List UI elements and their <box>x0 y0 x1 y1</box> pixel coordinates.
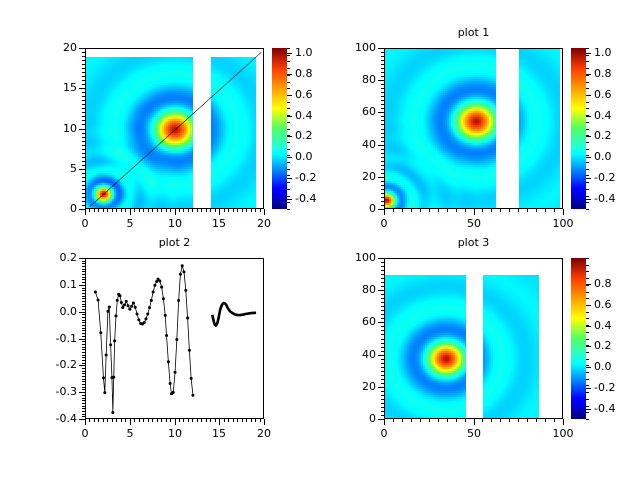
axis-tick <box>82 153 85 154</box>
colorbar-minor-tick <box>586 365 589 366</box>
colorbar-minor-tick <box>287 61 290 62</box>
axis-tick <box>82 149 85 150</box>
axis-tick <box>381 96 384 97</box>
axis-tick <box>130 209 131 215</box>
axis-tick <box>179 419 180 422</box>
axis-tick <box>447 419 448 422</box>
axis-tick <box>85 419 86 425</box>
axis-tick <box>82 100 85 101</box>
axis-tick <box>219 419 220 425</box>
colorbar-minor-tick <box>287 68 290 69</box>
axis-tick <box>79 392 85 393</box>
axis-tick <box>197 209 198 212</box>
axis-tick <box>82 52 85 53</box>
axis-tick <box>381 141 384 142</box>
data-point-marker <box>105 354 108 357</box>
axis-tick <box>82 293 85 294</box>
axis-tick <box>381 399 384 400</box>
data-point-marker <box>119 294 122 297</box>
axis-tick <box>210 209 211 212</box>
axis-tick <box>82 347 85 348</box>
axis-tick <box>82 381 85 382</box>
data-point-marker <box>121 306 124 309</box>
colorbar-minor-tick <box>586 298 589 299</box>
axis-tick <box>474 419 475 425</box>
axis-tick <box>554 209 555 212</box>
axis-tick <box>103 209 104 212</box>
colorbar-tick <box>586 53 591 54</box>
colorbar-tick-label: -0.4 <box>295 192 316 205</box>
axis-tick <box>82 68 85 69</box>
axis-tick <box>491 209 492 212</box>
axis-tick <box>82 282 85 283</box>
axis-tick <box>82 120 85 121</box>
axis-tick <box>82 314 85 315</box>
axis-tick <box>381 310 384 311</box>
colorbar-minor-tick <box>586 271 589 272</box>
data-point-marker <box>167 360 170 363</box>
line-path <box>212 303 256 326</box>
colorbar-plot1 <box>571 48 586 209</box>
axis-tick <box>491 419 492 422</box>
axis-tick <box>82 328 85 329</box>
axis-tick <box>82 349 85 350</box>
axis-tick <box>79 88 85 89</box>
axis-tick <box>82 360 85 361</box>
axis-tick <box>260 209 261 212</box>
colorbar-minor-tick <box>586 68 589 69</box>
data-point-marker <box>137 318 140 321</box>
axis-tick <box>429 209 430 212</box>
x-tick-label: 5 <box>112 217 148 230</box>
title-plot2: plot 2 <box>85 236 264 249</box>
axis-tick <box>381 302 384 303</box>
axis-tick <box>381 161 384 162</box>
axis-tick <box>381 326 384 327</box>
colorbar-minor-tick <box>586 175 589 176</box>
colorbar-minor-tick <box>586 129 589 130</box>
axis-tick <box>381 100 384 101</box>
y-tick-label: 0.2 <box>35 251 77 264</box>
colorbar-minor-tick <box>586 419 589 420</box>
colorbar-tick-label: -0.2 <box>594 381 615 394</box>
axis-tick <box>79 169 85 170</box>
colorbar-minor-tick <box>586 55 589 56</box>
colorbar-tick <box>287 136 292 137</box>
axis-tick <box>381 266 384 267</box>
colorbar-tick-label: -0.2 <box>594 171 615 184</box>
data-point-marker <box>179 273 182 276</box>
axis-tick <box>402 209 403 212</box>
axis-tick <box>474 209 475 215</box>
y-tick-label: 0 <box>35 202 77 215</box>
colorbar-minor-tick <box>287 55 290 56</box>
colorbar-minor-tick <box>586 312 589 313</box>
y-tick-label: 10 <box>35 122 77 135</box>
axis-tick <box>166 419 167 422</box>
colorbar-tick <box>586 326 591 327</box>
axis-tick <box>237 419 238 422</box>
colorbar-minor-tick <box>287 149 290 150</box>
x-tick-label: 15 <box>201 217 237 230</box>
colorbar-minor-tick <box>287 209 290 210</box>
axis-tick <box>482 419 483 422</box>
axis-tick <box>82 357 85 358</box>
data-point-marker <box>148 306 151 309</box>
colorbar-minor-tick <box>586 61 589 62</box>
axis-tick <box>219 209 220 215</box>
axis-tick <box>381 339 384 340</box>
heatmap-image-plot3 <box>385 259 563 419</box>
axis-tick <box>82 266 85 267</box>
axis-tick <box>438 419 439 422</box>
axis-tick <box>378 322 384 323</box>
axis-tick <box>509 419 510 422</box>
axis-tick <box>509 209 510 212</box>
data-point-marker <box>150 299 153 302</box>
axis-tick <box>381 157 384 158</box>
axis-tick <box>381 262 384 263</box>
colorbar-minor-tick <box>586 209 589 210</box>
axis-tick <box>378 145 384 146</box>
data-point-marker <box>144 317 147 320</box>
y-tick-label: -0.1 <box>35 332 77 345</box>
axis-tick <box>98 419 99 422</box>
data-point-marker <box>106 310 109 313</box>
axis-tick <box>183 209 184 212</box>
x-tick-label: 100 <box>545 217 581 230</box>
axis-tick <box>554 419 555 422</box>
colorbar-minor-tick <box>287 182 290 183</box>
axes-plot3[interactable] <box>384 258 563 419</box>
axis-tick <box>82 161 85 162</box>
data-point-marker <box>120 301 123 304</box>
axis-tick <box>116 209 117 212</box>
axis-tick <box>527 419 528 422</box>
axis-tick <box>210 419 211 422</box>
axis-tick <box>82 296 85 297</box>
axis-tick <box>381 415 384 416</box>
axis-tick <box>255 209 256 212</box>
axis-tick <box>381 149 384 150</box>
axis-tick <box>264 209 265 215</box>
colorbar-minor-tick <box>287 88 290 89</box>
colorbar-minor-tick <box>287 82 290 83</box>
axis-tick <box>381 205 384 206</box>
axis-tick <box>378 80 384 81</box>
data-point-marker <box>169 382 172 385</box>
line-series-plot2 <box>86 259 264 419</box>
colorbar-minor-tick <box>586 122 589 123</box>
y-tick-label: 40 <box>334 138 376 151</box>
data-point-marker <box>114 314 117 317</box>
axis-tick <box>378 48 384 49</box>
data-point-marker <box>111 411 114 414</box>
axis-tick <box>381 181 384 182</box>
axis-tick <box>381 116 384 117</box>
axis-tick <box>82 269 85 270</box>
axis-tick <box>157 419 158 422</box>
colorbar-tick <box>586 346 591 347</box>
axis-tick <box>438 209 439 212</box>
data-point-marker <box>143 321 146 324</box>
data-point-marker <box>116 299 119 302</box>
data-point-marker <box>186 317 189 320</box>
colorbar-minor-tick <box>287 129 290 130</box>
colorbar-minor-tick <box>586 379 589 380</box>
axis-tick <box>98 209 99 212</box>
axis-tick <box>201 419 202 422</box>
axis-tick <box>228 419 229 422</box>
colorbar-minor-tick <box>287 48 290 49</box>
data-point-marker <box>152 291 155 294</box>
axis-tick <box>411 209 412 212</box>
axis-tick <box>447 209 448 212</box>
axis-tick <box>215 209 216 212</box>
colorbar-minor-tick <box>586 189 589 190</box>
axis-tick <box>381 363 384 364</box>
data-point-marker <box>132 302 135 305</box>
axis-tick <box>82 173 85 174</box>
axis-tick <box>518 419 519 422</box>
axis-tick <box>381 359 384 360</box>
axis-tick <box>82 355 85 356</box>
axis-tick <box>381 367 384 368</box>
colorbar-tick <box>586 178 591 179</box>
colorbar-minor-tick <box>586 325 589 326</box>
axis-tick <box>82 309 85 310</box>
axes-plot2[interactable] <box>85 258 264 419</box>
axis-tick <box>82 371 85 372</box>
axis-tick <box>251 209 252 212</box>
colorbar-minor-tick <box>586 88 589 89</box>
data-point-marker <box>103 391 106 394</box>
axis-tick <box>381 351 384 352</box>
colorbar-tick-label: 0.8 <box>295 67 313 80</box>
x-tick-label: 0 <box>366 217 402 230</box>
axis-tick <box>255 419 256 422</box>
axis-tick <box>148 419 149 422</box>
colorbar-gradient-plot3 <box>571 258 586 419</box>
axis-tick <box>527 209 528 212</box>
colorbar-minor-tick <box>586 278 589 279</box>
axis-tick <box>384 209 385 215</box>
axis-tick <box>152 209 153 212</box>
axis-tick <box>82 112 85 113</box>
colorbar-minor-tick <box>287 135 290 136</box>
colorbar-tick <box>287 199 292 200</box>
axis-tick <box>378 177 384 178</box>
axis-tick <box>381 173 384 174</box>
axis-tick <box>482 209 483 212</box>
axis-tick <box>465 209 466 212</box>
axis-tick <box>79 339 85 340</box>
axis-tick <box>246 209 247 212</box>
colorbar-tick <box>586 116 591 117</box>
data-point-marker <box>183 270 186 273</box>
axis-tick <box>381 189 384 190</box>
y-tick-label: -0.2 <box>35 358 77 371</box>
y-tick-label: 15 <box>35 81 77 94</box>
data-point-marker <box>160 286 163 289</box>
axis-tick <box>381 108 384 109</box>
axis-tick <box>82 304 85 305</box>
axis-tick <box>197 419 198 422</box>
data-point-marker <box>162 297 165 300</box>
y-tick-label: 80 <box>334 283 376 296</box>
data-point-marker <box>165 334 168 337</box>
colorbar-tick-label: 0.0 <box>594 150 612 163</box>
axis-tick <box>82 80 85 81</box>
axis-tick <box>94 209 95 212</box>
colorbar-minor-tick <box>586 108 589 109</box>
axis-tick <box>152 419 153 422</box>
colorbar-minor-tick <box>287 75 290 76</box>
axis-tick <box>79 209 85 210</box>
colorbar-minor-tick <box>586 406 589 407</box>
axis-tick <box>82 137 85 138</box>
y-tick-label: 0 <box>334 202 376 215</box>
axis-tick <box>381 88 384 89</box>
colorbar-minor-tick <box>287 108 290 109</box>
axis-tick <box>82 133 85 134</box>
axis-tick <box>456 419 457 422</box>
data-point-marker <box>158 280 161 283</box>
colorbar-tick-label: -0.4 <box>594 402 615 415</box>
colorbar-tick <box>586 136 591 137</box>
axes-plot1[interactable] <box>384 48 563 209</box>
colorbar-minor-tick <box>586 345 589 346</box>
x-tick-label: 5 <box>112 427 148 440</box>
colorbar-minor-tick <box>586 339 589 340</box>
colorbar-tick-label: 0.4 <box>295 109 313 122</box>
axis-tick <box>381 153 384 154</box>
axis-tick <box>456 209 457 212</box>
axis-tick <box>224 209 225 212</box>
axis-tick <box>79 312 85 313</box>
colorbar-minor-tick <box>287 155 290 156</box>
colorbar-minor-tick <box>287 169 290 170</box>
axis-tick <box>82 84 85 85</box>
data-point-marker <box>113 339 116 342</box>
axis-tick <box>125 209 126 212</box>
colorbar-minor-tick <box>586 162 589 163</box>
axis-tick <box>82 76 85 77</box>
axis-tick <box>82 157 85 158</box>
colorbar-minor-tick <box>586 392 589 393</box>
axis-tick <box>82 387 85 388</box>
axis-tick <box>381 56 384 57</box>
axis-tick <box>82 261 85 262</box>
axis-tick <box>378 112 384 113</box>
title-plot3: plot 3 <box>384 236 563 249</box>
axis-tick <box>381 197 384 198</box>
axis-tick <box>518 209 519 212</box>
axis-tick <box>112 419 113 422</box>
axis-tick <box>79 258 85 259</box>
colorbar-minor-tick <box>287 142 290 143</box>
axis-tick <box>192 209 193 212</box>
colorbar-tick <box>287 53 292 54</box>
axis-tick <box>79 365 85 366</box>
axis-tick <box>82 322 85 323</box>
data-point-marker <box>146 313 149 316</box>
axis-tick <box>82 403 85 404</box>
colorbar-tick-label: 0.8 <box>594 277 612 290</box>
colorbar-minor-tick <box>586 169 589 170</box>
axis-tick <box>82 104 85 105</box>
x-tick-label: 100 <box>545 427 581 440</box>
axis-tick <box>381 137 384 138</box>
x-tick-label: 15 <box>201 427 237 440</box>
axis-tick <box>264 419 265 425</box>
axis-tick <box>82 177 85 178</box>
axis-tick <box>563 419 564 425</box>
axis-tick <box>175 209 176 215</box>
axis-tick <box>381 270 384 271</box>
x-tick-label: 0 <box>366 427 402 440</box>
axes-plot0[interactable] <box>85 48 264 209</box>
axis-tick <box>82 384 85 385</box>
axis-tick <box>381 343 384 344</box>
axis-tick <box>82 373 85 374</box>
axis-tick <box>381 274 384 275</box>
axis-tick <box>82 277 85 278</box>
axis-tick <box>82 408 85 409</box>
axis-tick <box>192 419 193 422</box>
data-point-marker <box>99 331 102 334</box>
axis-tick <box>82 411 85 412</box>
axis-tick <box>420 419 421 422</box>
axis-tick <box>381 294 384 295</box>
axis-tick <box>82 92 85 93</box>
axis-tick <box>82 288 85 289</box>
data-point-marker <box>134 306 137 309</box>
axis-tick <box>246 419 247 422</box>
colorbar-tick-label: 0.0 <box>594 360 612 373</box>
colorbar-minor-tick <box>287 162 290 163</box>
axis-tick <box>381 84 384 85</box>
axis-tick <box>188 209 189 212</box>
axis-tick <box>82 201 85 202</box>
colorbar-minor-tick <box>586 258 589 259</box>
axis-tick <box>82 72 85 73</box>
data-point-marker <box>123 303 126 306</box>
axis-tick <box>381 124 384 125</box>
axis-tick <box>82 96 85 97</box>
y-tick-label: 80 <box>334 73 376 86</box>
colorbar-minor-tick <box>586 155 589 156</box>
x-tick-label: 50 <box>456 427 492 440</box>
axis-tick <box>134 419 135 422</box>
axis-tick <box>536 419 537 422</box>
y-tick-label: 20 <box>35 41 77 54</box>
colorbar-plot3 <box>571 258 586 419</box>
colorbar-minor-tick <box>586 142 589 143</box>
axis-tick <box>500 209 501 212</box>
axis-tick <box>82 116 85 117</box>
axis-tick <box>242 419 243 422</box>
axis-tick <box>82 56 85 57</box>
data-point-marker <box>181 264 184 267</box>
axis-tick <box>166 209 167 212</box>
axis-tick <box>143 419 144 422</box>
colorbar-tick-label: 0.2 <box>594 129 612 142</box>
x-tick-label: 50 <box>456 217 492 230</box>
axis-tick <box>94 419 95 422</box>
axis-tick <box>121 419 122 422</box>
axis-tick <box>179 209 180 212</box>
